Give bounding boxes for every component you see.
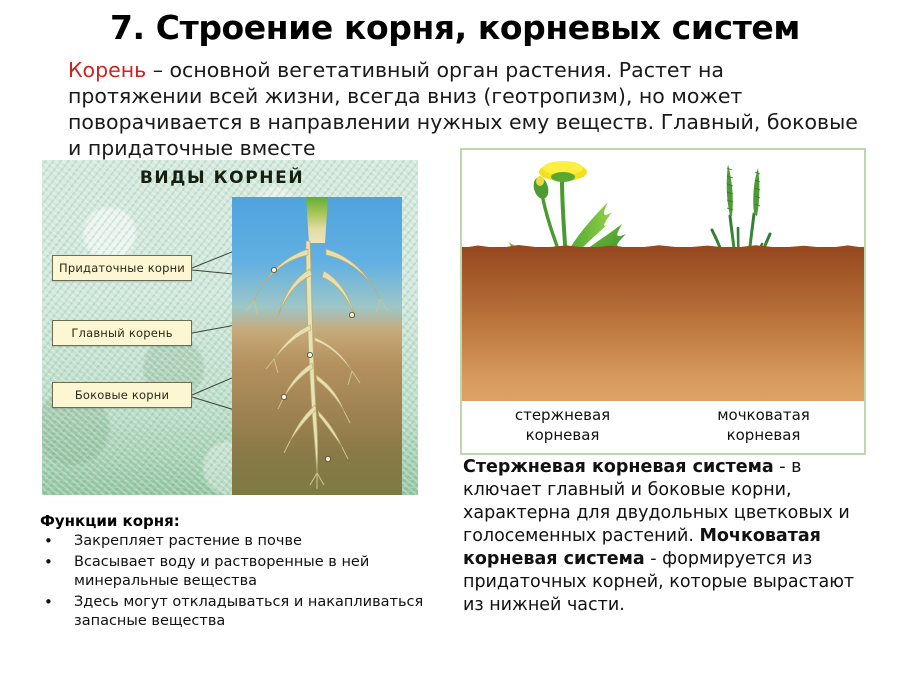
root-types-heading: ВИДЫ КОРНЕЙ — [42, 168, 402, 188]
page-title: 7. Строение корня, корневых систем — [0, 8, 910, 47]
functions-list: • Закрепляет растение в почве • Всасывае… — [40, 532, 430, 633]
root-systems-description: Стержневая корневая система - в ключает … — [463, 456, 863, 617]
functions-title: Функции корня: — [40, 512, 180, 530]
list-item-label: Всасывает воду и растворенные в ней мине… — [74, 554, 369, 589]
caption-taproot-line2: корневая — [462, 425, 663, 445]
soil-band — [462, 247, 864, 401]
list-item-label: Закрепляет растение в почве — [74, 533, 302, 549]
list-item: • Закрепляет растение в почве — [40, 532, 430, 551]
label-lateral-roots: Боковые корни — [52, 382, 192, 408]
caption-fibrous: мочковатая корневая — [663, 401, 864, 453]
bullet-icon: • — [44, 553, 53, 572]
root-system-diagram — [232, 197, 402, 495]
root-drawing — [232, 197, 402, 495]
caption-fibrous-line1: мочковатая — [663, 405, 864, 425]
intro-keyword: Корень — [68, 58, 146, 82]
intro-paragraph: Корень – основной вегетативный орган рас… — [68, 57, 858, 161]
caption-taproot: стержневая корневая — [462, 401, 663, 453]
bullet-icon: • — [44, 593, 53, 612]
root-systems-image-panel: стержневая корневая мочковатая корневая — [460, 148, 866, 455]
caption-fibrous-line2: корневая — [663, 425, 864, 445]
root-system-captions: стержневая корневая мочковатая корневая — [462, 401, 864, 453]
label-adventitious-roots: Придаточные корни — [52, 255, 192, 281]
root-types-image-panel: ВИДЫ КОРНЕЙ — [42, 160, 418, 495]
bullet-icon: • — [44, 532, 53, 551]
list-item: • Всасывает воду и растворенные в ней ми… — [40, 553, 430, 591]
intro-body: – основной вегетативный орган растения. … — [68, 58, 858, 160]
label-main-root: Главный корень — [52, 320, 192, 346]
taproot-term: Стержневая корневая система — [463, 457, 774, 477]
list-item-label: Здесь могут откладываться и накапливатьс… — [74, 594, 423, 629]
slide-root: 7. Строение корня, корневых систем Корен… — [0, 0, 910, 683]
caption-taproot-line1: стержневая — [462, 405, 663, 425]
list-item: • Здесь могут откладываться и накапливат… — [40, 593, 430, 631]
